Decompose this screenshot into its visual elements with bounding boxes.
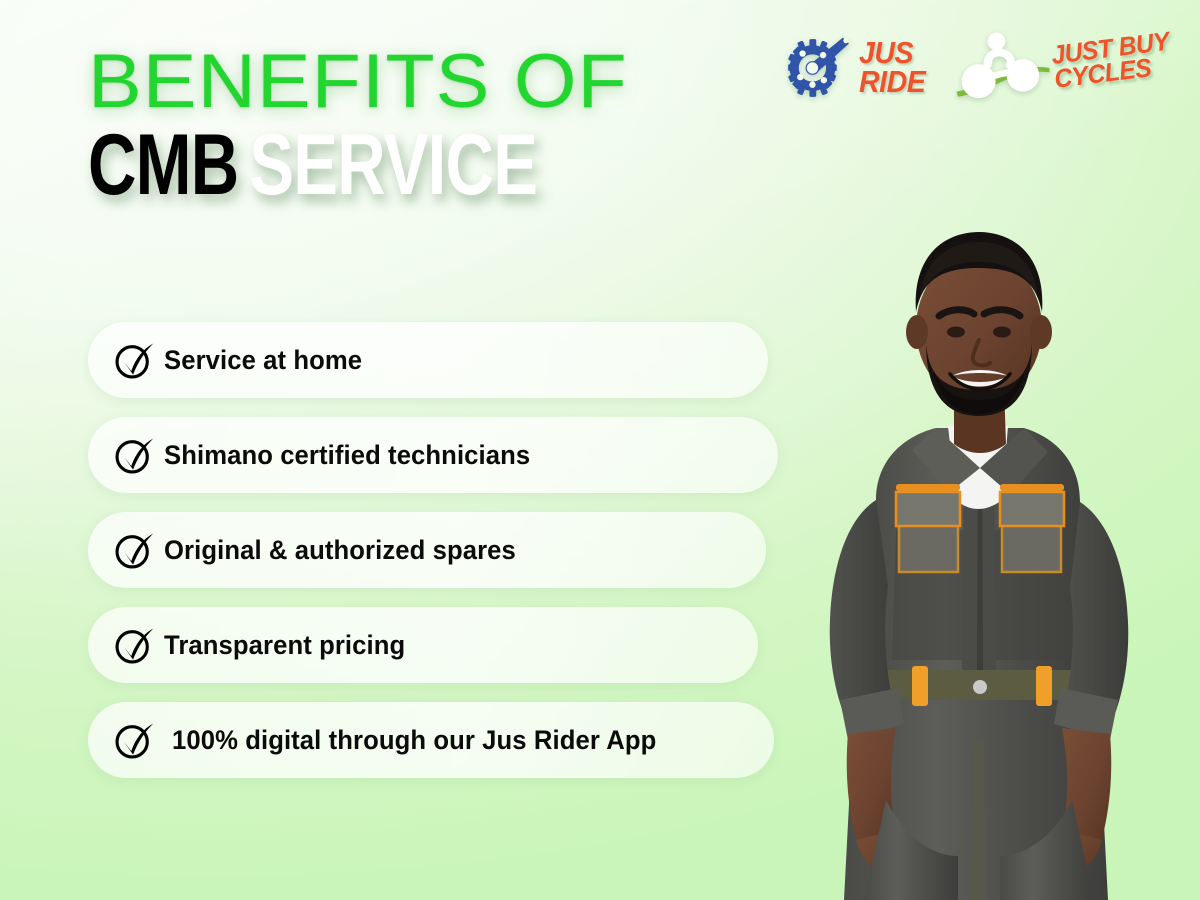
just-buy-cycles-logo[interactable]: JUST BUY CYCLES bbox=[955, 32, 1178, 104]
poster-canvas: BENEFITS OF CMBSERVICE bbox=[0, 0, 1200, 900]
technician-photo bbox=[736, 200, 1200, 900]
check-circle-icon bbox=[112, 623, 156, 667]
cyclist-swoosh-icon bbox=[955, 32, 1051, 104]
jus-ride-line-2: RIDE bbox=[859, 68, 925, 97]
check-circle-icon bbox=[112, 338, 156, 382]
benefit-label: 100% digital through our Jus Rider App bbox=[172, 725, 656, 756]
jus-ride-logo[interactable]: JUS RIDE bbox=[779, 28, 931, 108]
benefit-label: Transparent pricing bbox=[164, 630, 405, 661]
benefit-item[interactable]: Transparent pricing bbox=[88, 607, 758, 683]
check-circle-icon bbox=[112, 528, 156, 572]
check-circle-icon bbox=[112, 433, 156, 477]
headline-block: BENEFITS OF CMBSERVICE bbox=[88, 46, 664, 206]
logo-group: JUS RIDE JUST BUY CYCLES bbox=[779, 28, 1178, 108]
benefit-item[interactable]: Service at home bbox=[88, 322, 768, 398]
benefits-list: Service at home Shimano certified techni… bbox=[88, 322, 778, 797]
chainring-crank-icon bbox=[779, 28, 855, 108]
headline-line-2: CMBSERVICE bbox=[88, 125, 537, 206]
benefit-label: Shimano certified technicians bbox=[164, 440, 530, 471]
benefit-item[interactable]: 100% digital through our Jus Rider App bbox=[88, 702, 774, 778]
headline-cmb: CMB bbox=[88, 117, 238, 213]
headline-service: SERVICE bbox=[249, 117, 537, 213]
benefit-label: Original & authorized spares bbox=[164, 535, 516, 566]
headline-line-1: BENEFITS OF bbox=[88, 46, 698, 119]
just-buy-cycles-wordmark: JUST BUY CYCLES bbox=[1051, 30, 1174, 92]
benefit-item[interactable]: Original & authorized spares bbox=[88, 512, 766, 588]
benefit-label: Service at home bbox=[164, 345, 362, 376]
jus-ride-wordmark: JUS RIDE bbox=[859, 39, 925, 96]
check-circle-icon bbox=[112, 718, 156, 762]
benefit-item[interactable]: Shimano certified technicians bbox=[88, 417, 778, 493]
